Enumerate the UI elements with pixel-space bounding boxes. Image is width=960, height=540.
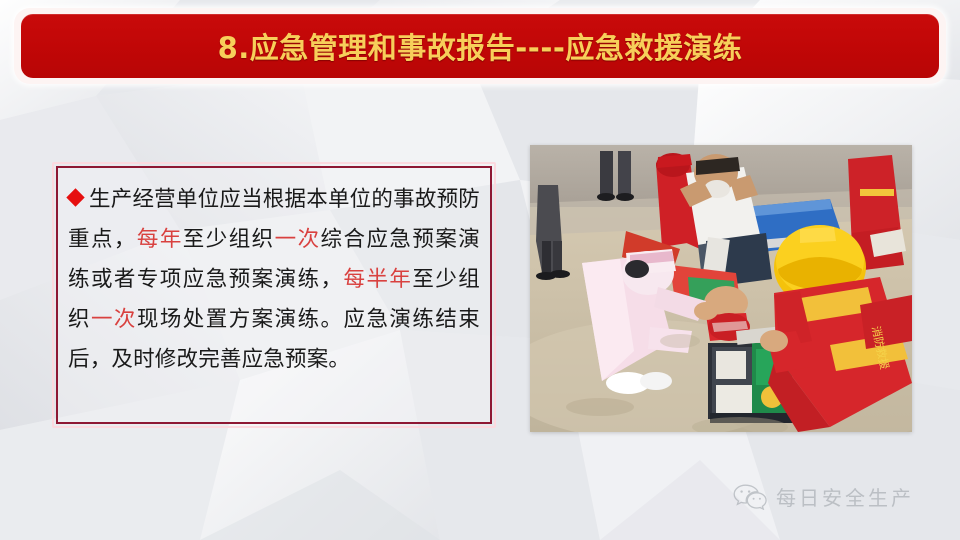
rescue-drill-photo: 消防救援 (530, 145, 912, 432)
paragraph-segment-7-highlight: 一次 (91, 307, 137, 332)
wechat-icon (733, 484, 767, 510)
slide-root: 8.应急管理和事故报告----应急救援演练 生产经营单位应当根据本单位的事故预防… (0, 0, 960, 540)
paragraph-segment-5-highlight: 每半年 (344, 267, 413, 292)
paragraph-segment-1-highlight: 每年 (137, 227, 183, 252)
title-banner: 8.应急管理和事故报告----应急救援演练 (21, 14, 939, 78)
page-title: 8.应急管理和事故报告----应急救援演练 (218, 25, 743, 67)
watermark: 每日安全生产 (733, 482, 914, 511)
paragraph-segment-2: 至少组织 (183, 227, 275, 252)
red-diamond-bullet-icon (66, 188, 84, 206)
content-text-box: 生产经营单位应当根据本单位的事故预防重点，每年至少组织一次综合应急预案演练或者专… (56, 166, 492, 424)
body-paragraph: 生产经营单位应当根据本单位的事故预防重点，每年至少组织一次综合应急预案演练或者专… (68, 180, 480, 380)
paragraph-segment-3-highlight: 一次 (275, 227, 321, 252)
watermark-label: 每日安全生产 (776, 482, 914, 511)
